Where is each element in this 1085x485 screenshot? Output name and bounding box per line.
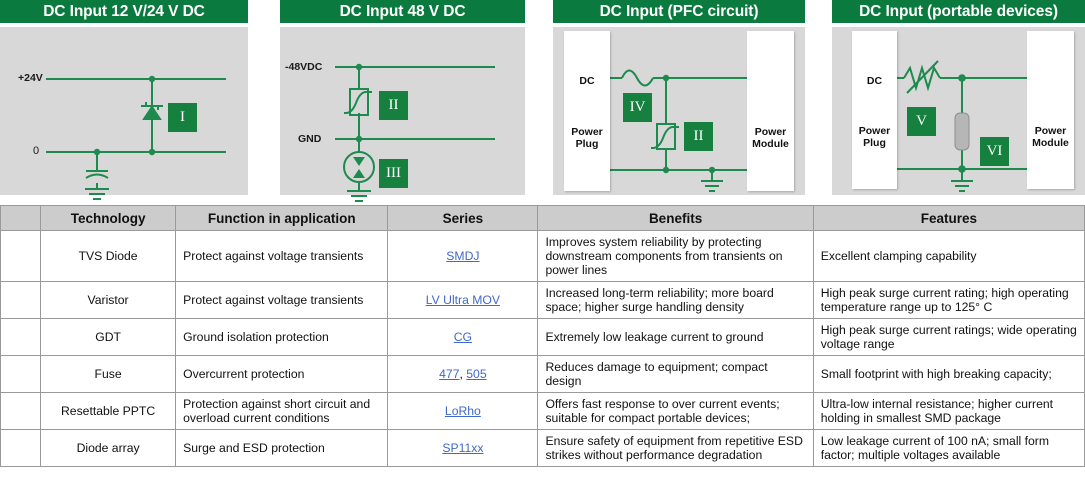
series-link[interactable]: 477	[439, 367, 459, 381]
column-header-benefits: Benefits	[538, 206, 813, 231]
rail-label-positive: +24V	[18, 72, 43, 84]
ground-symbol	[951, 181, 973, 191]
table-row: VIDiode arraySurge and ESD protectionSP1…	[1, 430, 1085, 467]
power-plug-label-line2: Plug	[564, 138, 610, 150]
column-header-features: Features	[813, 206, 1084, 231]
component-chip-II: II	[684, 122, 713, 151]
power-plug-top-label: DC	[564, 75, 610, 87]
component-chip-VI: VI	[980, 137, 1009, 166]
cell-roman: III	[1, 319, 41, 356]
ground-symbol	[701, 181, 723, 191]
cell-benefits: Offers fast response to over current eve…	[538, 393, 813, 430]
cell-function: Overcurrent protection	[176, 356, 388, 393]
circuit-panel-dc-12-24v: DC Input 12 V/24 V DC	[0, 0, 248, 195]
cell-roman: V	[1, 393, 41, 430]
cell-benefits: Reduces damage to equipment; compact des…	[538, 356, 813, 393]
table-header: Technology Function in application Serie…	[1, 206, 1085, 231]
power-plug-top-label: DC	[852, 75, 897, 87]
cell-technology: Varistor	[41, 282, 176, 319]
cell-function: Protect against voltage transients	[176, 282, 388, 319]
ground-symbol	[347, 191, 371, 201]
cell-features: Small footprint with high breaking capac…	[813, 356, 1084, 393]
circuit-panel-dc-48v: DC Input 48 V DC	[280, 0, 525, 195]
panel-title: DC Input 12 V/24 V DC	[0, 0, 248, 23]
rail-label-zero: 0	[33, 145, 39, 157]
panel-diagram: -48VDC GND II III	[280, 27, 525, 195]
table-body: ITVS DiodeProtect against voltage transi…	[1, 231, 1085, 467]
series-link[interactable]: CG	[454, 330, 472, 344]
cell-features: High peak surge current rating; high ope…	[813, 282, 1084, 319]
table-header-row: Technology Function in application Serie…	[1, 206, 1085, 231]
table-row: IIIGDTGround isolation protectionCGExtre…	[1, 319, 1085, 356]
power-module-label-line2: Module	[1027, 137, 1074, 149]
cell-features: Excellent clamping capability	[813, 231, 1084, 282]
panel-diagram: DC Power Plug Power Module V VI	[832, 27, 1085, 195]
cell-technology: Fuse	[41, 356, 176, 393]
cell-series: SMDJ	[388, 231, 538, 282]
cell-series: SP11xx	[388, 430, 538, 467]
table-row: IVFuseOvercurrent protection477, 505Redu…	[1, 356, 1085, 393]
cell-function: Ground isolation protection	[176, 319, 388, 356]
cell-technology: GDT	[41, 319, 176, 356]
cell-function: Protect against voltage transients	[176, 231, 388, 282]
power-plug-box: DC Power Plug	[564, 31, 610, 191]
cell-benefits: Increased long-term reliability; more bo…	[538, 282, 813, 319]
cell-series: 477, 505	[388, 356, 538, 393]
technology-spec-table-wrap: Technology Function in application Serie…	[0, 205, 1085, 467]
panel-title: DC Input 48 V DC	[280, 0, 525, 23]
series-link[interactable]: LoRho	[445, 404, 481, 418]
component-chip-II: II	[379, 91, 408, 120]
diode-array-symbol	[955, 113, 969, 150]
cell-benefits: Ensure safety of equipment from repetiti…	[538, 430, 813, 467]
component-chip-I: I	[168, 103, 197, 132]
cell-features: Ultra-low internal resistance; higher cu…	[813, 393, 1084, 430]
cell-function: Protection against short circuit and ove…	[176, 393, 388, 430]
cell-technology: TVS Diode	[41, 231, 176, 282]
fuse-symbol	[622, 71, 653, 86]
column-header-function: Function in application	[176, 206, 388, 231]
cell-series: CG	[388, 319, 538, 356]
power-plug-label-line1: Power	[852, 125, 897, 137]
cell-features: Low leakage current of 100 nA; small for…	[813, 430, 1084, 467]
component-chip-III: III	[379, 159, 408, 188]
table-row: IIVaristorProtect against voltage transi…	[1, 282, 1085, 319]
circuit-panel-portable: DC Input (portable devices)	[832, 0, 1085, 195]
power-module-label-line1: Power	[1027, 125, 1074, 137]
cell-features: High peak surge current ratings; wide op…	[813, 319, 1084, 356]
circuit-panels-strip: DC Input 12 V/24 V DC	[0, 0, 1085, 200]
circuit-svg-1	[0, 21, 248, 201]
panel-title: DC Input (portable devices)	[832, 0, 1085, 23]
cell-series: LV Ultra MOV	[388, 282, 538, 319]
ground-symbol	[85, 189, 109, 199]
cell-benefits: Extremely low leakage current to ground	[538, 319, 813, 356]
table-row: ITVS DiodeProtect against voltage transi…	[1, 231, 1085, 282]
column-header-series: Series	[388, 206, 538, 231]
power-module-label-line1: Power	[747, 126, 794, 138]
cell-roman: II	[1, 282, 41, 319]
technology-spec-table: Technology Function in application Serie…	[0, 205, 1085, 467]
cell-technology: Diode array	[41, 430, 176, 467]
panel-diagram: DC Power Plug Power Module IV II	[553, 27, 805, 195]
cell-roman: I	[1, 231, 41, 282]
rail-label-negative-48vdc: -48VDC	[285, 61, 322, 73]
cell-benefits: Improves system reliability by protectin…	[538, 231, 813, 282]
panel-diagram: +24V 0 I	[0, 27, 248, 195]
power-plug-label-line2: Plug	[852, 137, 897, 149]
panel-title: DC Input (PFC circuit)	[553, 0, 805, 23]
series-link[interactable]: SMDJ	[446, 249, 479, 263]
series-link[interactable]: 505	[466, 367, 486, 381]
cell-roman: VI	[1, 430, 41, 467]
column-header-technology: Technology	[41, 206, 176, 231]
cell-function: Surge and ESD protection	[176, 430, 388, 467]
cell-roman: IV	[1, 356, 41, 393]
component-chip-IV: IV	[623, 93, 652, 122]
rail-label-gnd: GND	[298, 133, 321, 145]
power-plug-label-line1: Power	[564, 126, 610, 138]
table-row: VResettable PPTCProtection against short…	[1, 393, 1085, 430]
component-chip-V: V	[907, 107, 936, 136]
series-link[interactable]: LV Ultra MOV	[426, 293, 500, 307]
cell-series: LoRho	[388, 393, 538, 430]
series-link[interactable]: SP11xx	[442, 441, 483, 455]
cell-technology: Resettable PPTC	[41, 393, 176, 430]
column-header-index	[1, 206, 41, 231]
power-plug-box: DC Power Plug	[852, 31, 897, 189]
power-module-box: Power Module	[747, 31, 794, 191]
power-module-label-line2: Module	[747, 138, 794, 150]
circuit-panel-pfc: DC Input (PFC circuit)	[553, 0, 805, 195]
power-module-box: Power Module	[1027, 31, 1074, 189]
